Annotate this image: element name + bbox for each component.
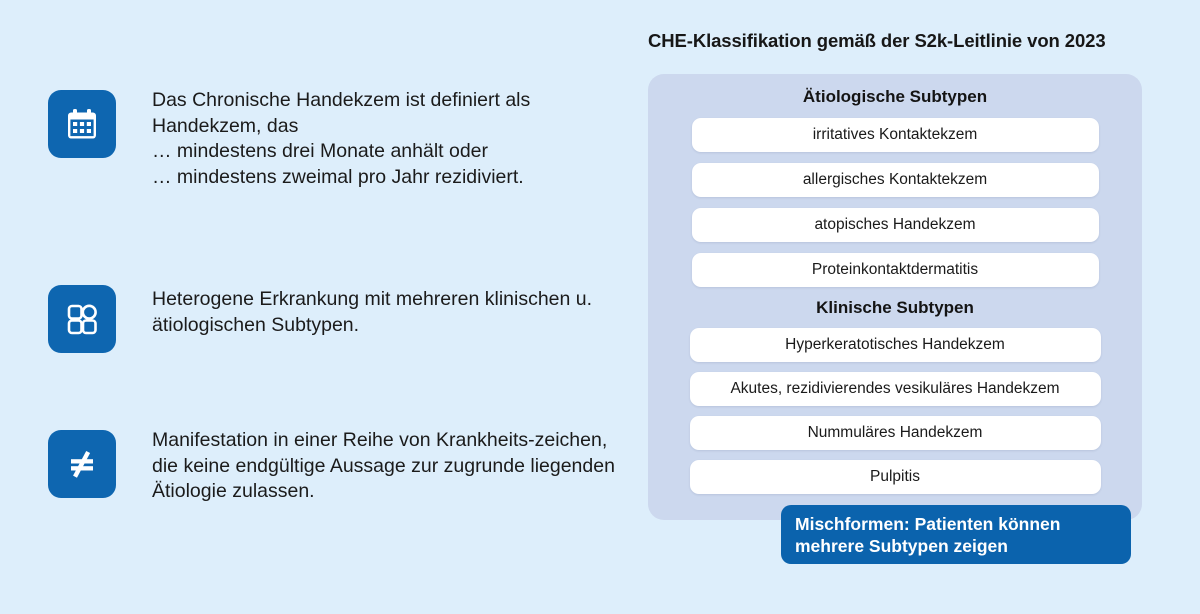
bullet-text: Manifestation in einer Reihe von Krankhe… bbox=[152, 428, 622, 505]
bullet-row: Manifestation in einer Reihe von Krankhe… bbox=[48, 430, 622, 505]
list-item: atopisches Handekzem bbox=[692, 208, 1099, 242]
list-item: allergisches Kontaktekzem bbox=[692, 163, 1099, 197]
clinical-subtypes-heading: Klinische Subtypen bbox=[648, 298, 1142, 318]
page-title: CHE-Klassifikation gemäß der S2k-Leitlin… bbox=[648, 30, 1106, 52]
right-column: CHE-Klassifikation gemäß der S2k-Leitlin… bbox=[630, 0, 1200, 614]
bullet-text: Das Chronische Handekzem ist definiert a… bbox=[152, 88, 622, 190]
grid-categories-icon bbox=[48, 285, 116, 353]
list-item: Hyperkeratotisches Handekzem bbox=[690, 328, 1101, 362]
not-equal-icon bbox=[48, 430, 116, 498]
left-column: Das Chronische Handekzem ist definiert a… bbox=[0, 0, 630, 614]
list-item: Pulpitis bbox=[690, 460, 1101, 494]
list-item: Akutes, rezidivierendes vesikuläres Hand… bbox=[690, 372, 1101, 406]
etiologic-subtypes-list: irritatives Kontaktekzem allergisches Ko… bbox=[648, 118, 1142, 287]
bullet-row: Das Chronische Handekzem ist definiert a… bbox=[48, 90, 622, 190]
list-item: Nummuläres Handekzem bbox=[690, 416, 1101, 450]
calendar-icon bbox=[48, 90, 116, 158]
bullet-text: Heterogene Erkrankung mit mehreren klini… bbox=[152, 287, 622, 338]
clinical-subtypes-list: Hyperkeratotisches Handekzem Akutes, rez… bbox=[648, 328, 1142, 494]
list-item: Proteinkontaktdermatitis bbox=[692, 253, 1099, 287]
classification-panel: Ätiologische Subtypen irritatives Kontak… bbox=[648, 74, 1142, 520]
etiologic-subtypes-heading: Ätiologische Subtypen bbox=[648, 87, 1142, 107]
list-item: irritatives Kontaktekzem bbox=[692, 118, 1099, 152]
mixed-forms-banner: Mischformen: Patienten können mehrere Su… bbox=[781, 505, 1131, 564]
bullet-row: Heterogene Erkrankung mit mehreren klini… bbox=[48, 285, 622, 353]
